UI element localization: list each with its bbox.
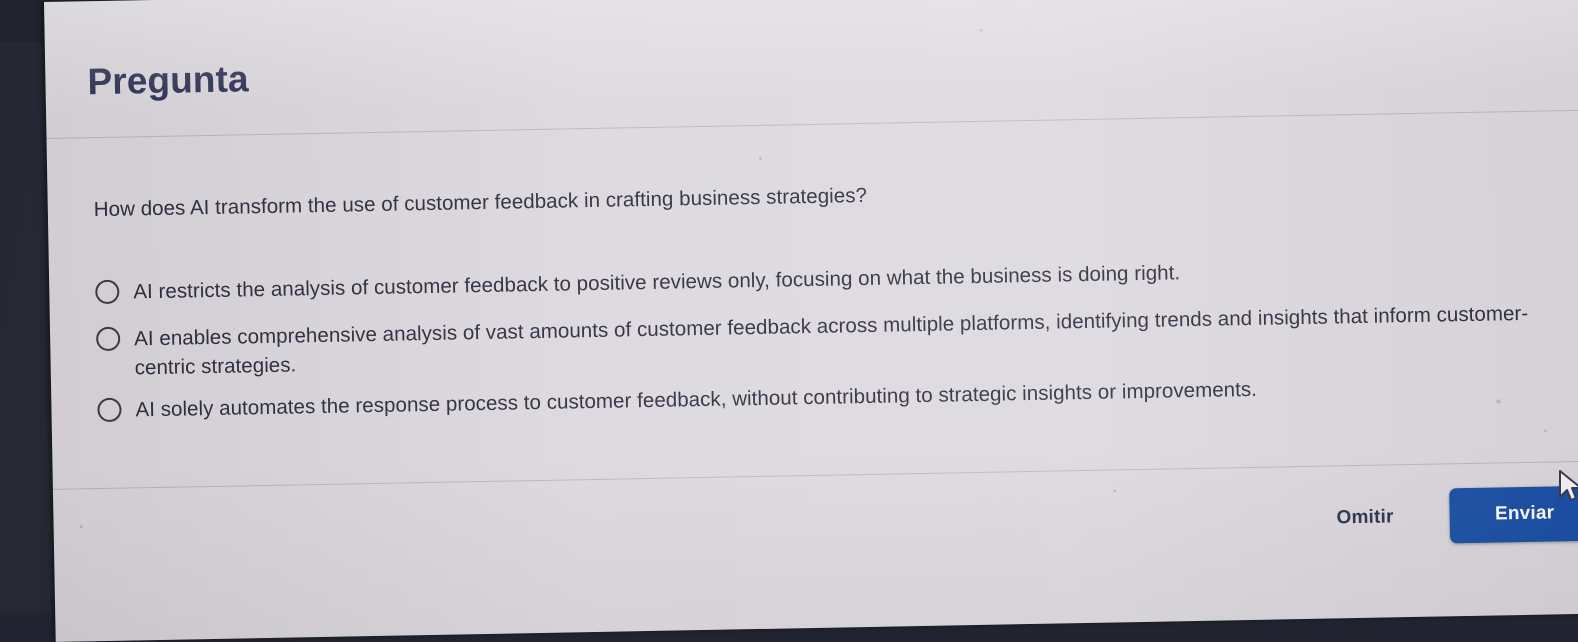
dust-speck bbox=[1544, 430, 1547, 433]
page-title: Pregunta bbox=[87, 60, 249, 100]
question-prompt: How does AI transform the use of custome… bbox=[94, 183, 868, 223]
radio-unchecked-icon[interactable] bbox=[96, 327, 120, 351]
answer-option-label: AI solely automates the response process… bbox=[135, 375, 1257, 425]
dust-speck bbox=[80, 525, 83, 528]
answer-options-list: AI restricts the analysis of customer fe… bbox=[95, 251, 1578, 443]
footer-actions: Omitir Enviar bbox=[1332, 486, 1578, 546]
skip-button[interactable]: Omitir bbox=[1332, 500, 1398, 535]
card-footer: Omitir Enviar bbox=[53, 460, 1578, 642]
submit-button[interactable]: Enviar bbox=[1449, 486, 1578, 544]
dust-speck bbox=[980, 29, 983, 32]
card-header: Pregunta bbox=[44, 0, 1578, 138]
dust-speck bbox=[759, 157, 762, 160]
radio-unchecked-icon[interactable] bbox=[97, 398, 121, 422]
answer-option-label: AI enables comprehensive analysis of vas… bbox=[134, 298, 1555, 382]
quiz-card: Pregunta How does AI transform the use o… bbox=[44, 0, 1578, 642]
answer-option-b[interactable]: AI enables comprehensive analysis of vas… bbox=[96, 298, 1577, 383]
dust-speck bbox=[1497, 399, 1501, 403]
radio-unchecked-icon[interactable] bbox=[95, 280, 119, 304]
answer-option-label: AI restricts the analysis of customer fe… bbox=[133, 258, 1180, 306]
screen-bezel: Pregunta How does AI transform the use o… bbox=[0, 0, 1578, 612]
dust-speck bbox=[1113, 489, 1116, 492]
